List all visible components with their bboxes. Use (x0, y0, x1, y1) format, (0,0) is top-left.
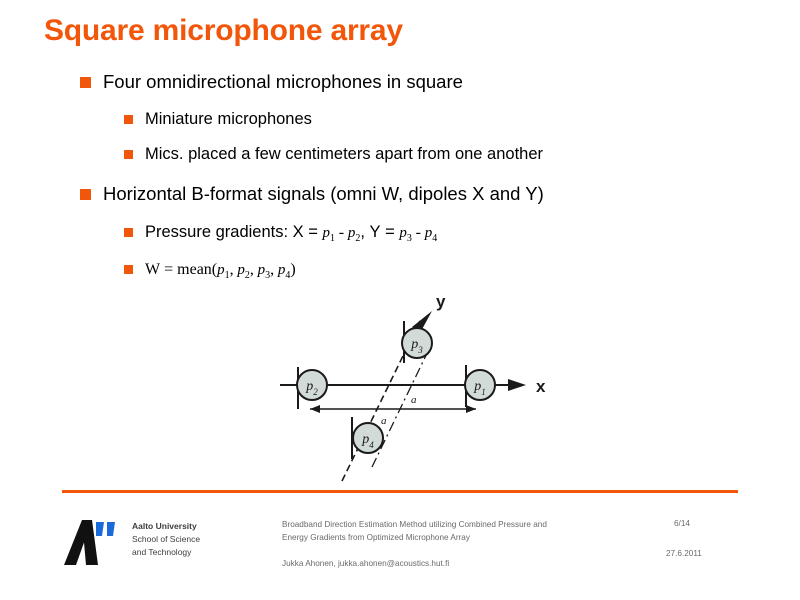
formula-p4: p4 (425, 225, 438, 241)
formula-p2: p2 (348, 225, 361, 241)
bullet-item-level1: Four omnidirectional microphones in squa… (80, 70, 740, 93)
aalto-logo-icon (62, 518, 124, 566)
dimension-arrow-left-icon (310, 405, 320, 413)
w-formula: W = mean(p1, p2, p3, p4) (145, 259, 296, 283)
bullet-text: Mics. placed a few centimeters apart fro… (145, 144, 543, 165)
dimension-label-a1: a (381, 415, 387, 427)
brand-line-1: Aalto University (132, 520, 200, 533)
footer-title-line-1: Broadband Direction Estimation Method ut… (282, 519, 662, 532)
formula-x-equals: = (308, 223, 318, 241)
bullet-text: Miniature microphones (145, 109, 312, 130)
formula-p1: p1 (217, 262, 230, 278)
formula-x-lhs: X (293, 223, 304, 241)
formula-y-lhs: Y (370, 223, 381, 241)
bullet-item-level2: Miniature microphones (124, 109, 740, 130)
dimension-arrow-right-icon (466, 405, 476, 413)
bullet-square-icon (80, 77, 91, 88)
footer-presentation-title: Broadband Direction Estimation Method ut… (282, 519, 662, 544)
bullet-item-w-formula: W = mean(p1, p2, p3, p4) (124, 259, 740, 283)
bullet-item-level1: Horizontal B-format signals (omni W, dip… (80, 182, 740, 205)
bullet-square-icon (80, 189, 91, 200)
bullet-square-icon (124, 115, 133, 124)
brand-line-2: School of Science (132, 533, 200, 546)
formula-p4: p4 (278, 262, 291, 278)
footer-divider (62, 490, 738, 493)
brand-block: Aalto University School of Science and T… (132, 520, 200, 560)
bullet-text: Horizontal B-format signals (omni W, dip… (103, 182, 544, 205)
y-axis-label: y (436, 292, 446, 311)
slide-canvas: Square microphone array Four omnidirecti… (0, 0, 800, 600)
microphone-array-diagram: p2 p1 p3 p4 x y a a (280, 285, 570, 485)
bullet-list: Four omnidirectional microphones in squa… (80, 70, 740, 297)
bullet-square-icon (124, 265, 133, 274)
x-axis-arrow-icon (508, 379, 526, 391)
bullet-square-icon (124, 228, 133, 237)
pressure-gradient-formula: Pressure gradients: X = p1 - p2, Y = p3 … (145, 222, 437, 246)
formula-y-equals: = (385, 223, 395, 241)
footer-date: 27.6.2011 (666, 549, 702, 558)
page-title: Square microphone array (44, 14, 403, 48)
formula-p1: p1 (323, 225, 336, 241)
footer-author: Jukka Ahonen, jukka.ahonen@acoustics.hut… (282, 559, 449, 568)
formula-mean-fn: mean (177, 261, 212, 278)
formula-paren-close: ) (290, 261, 295, 278)
bullet-text: Four omnidirectional microphones in squa… (103, 70, 463, 93)
bullet-square-icon (124, 150, 133, 159)
footer-page-number: 6/14 (674, 519, 690, 528)
slide-footer: Aalto University School of Science and T… (62, 512, 752, 592)
bullet-item-pressure-gradients: Pressure gradients: X = p1 - p2, Y = p3 … (124, 222, 740, 246)
formula-p3: p3 (399, 225, 412, 241)
dimension-label-a2: a (411, 394, 417, 406)
x-axis-label: x (536, 377, 546, 396)
formula-lead: Pressure gradients: (145, 223, 288, 241)
formula-p3: p3 (258, 262, 271, 278)
bullet-item-level2: Mics. placed a few centimeters apart fro… (124, 144, 740, 165)
diagonal-guide-line (372, 343, 432, 467)
formula-p2: p2 (237, 262, 250, 278)
footer-title-line-2: Energy Gradients from Optimized Micropho… (282, 532, 662, 545)
formula-w-equals: = (164, 261, 173, 278)
brand-line-3: and Technology (132, 546, 200, 559)
formula-w-lhs: W (145, 261, 160, 278)
